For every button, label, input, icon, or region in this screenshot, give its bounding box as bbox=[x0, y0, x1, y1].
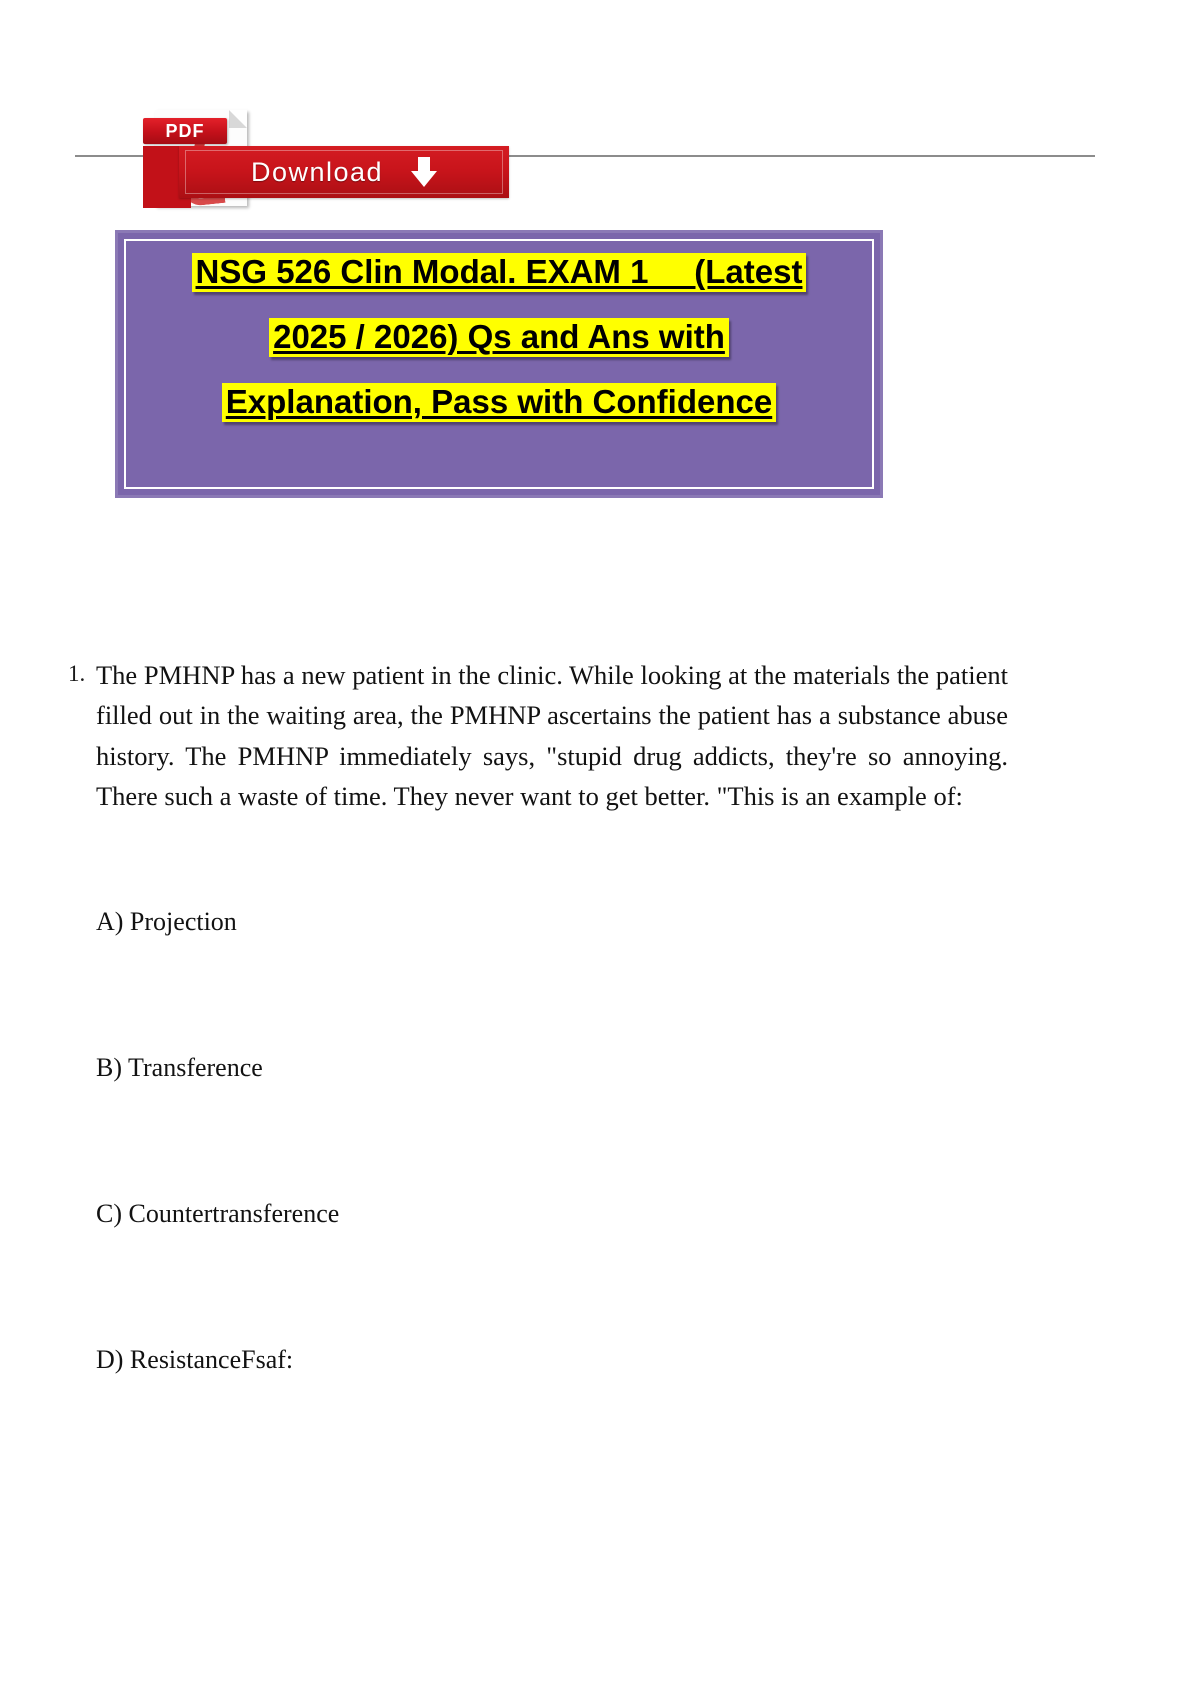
answer-option-d[interactable]: D) ResistanceFsaf: bbox=[96, 1343, 996, 1489]
answer-option-b[interactable]: B) Transference bbox=[96, 1051, 996, 1197]
title-banner: NSG 526 Clin Modal. EXAM 1 (Latest 2025 … bbox=[115, 230, 883, 498]
document-page: PDF Download NSG 526 Clin Modal. EXAM 1 … bbox=[0, 0, 1200, 1700]
question-text: The PMHNP has a new patient in the clini… bbox=[96, 655, 1008, 816]
title-line-1: NSG 526 Clin Modal. EXAM 1 (Latest bbox=[192, 253, 807, 292]
question-number: 1. bbox=[68, 655, 96, 692]
answer-options-list: A) Projection B) Transference C) Counter… bbox=[96, 905, 996, 1489]
download-button-label: Download bbox=[251, 157, 383, 188]
pdf-download-widget[interactable]: PDF Download bbox=[143, 108, 513, 208]
answer-option-c[interactable]: C) Countertransference bbox=[96, 1197, 996, 1343]
answer-option-a[interactable]: A) Projection bbox=[96, 905, 996, 1051]
title-line-3: Explanation, Pass with Confidence bbox=[222, 383, 776, 422]
download-button[interactable]: Download bbox=[179, 146, 509, 198]
download-arrow-icon bbox=[411, 157, 437, 187]
title-line-2: 2025 / 2026) Qs and Ans with bbox=[269, 318, 729, 357]
pdf-badge-label: PDF bbox=[143, 118, 227, 144]
question-block: 1. The PMHNP has a new patient in the cl… bbox=[68, 655, 1008, 816]
